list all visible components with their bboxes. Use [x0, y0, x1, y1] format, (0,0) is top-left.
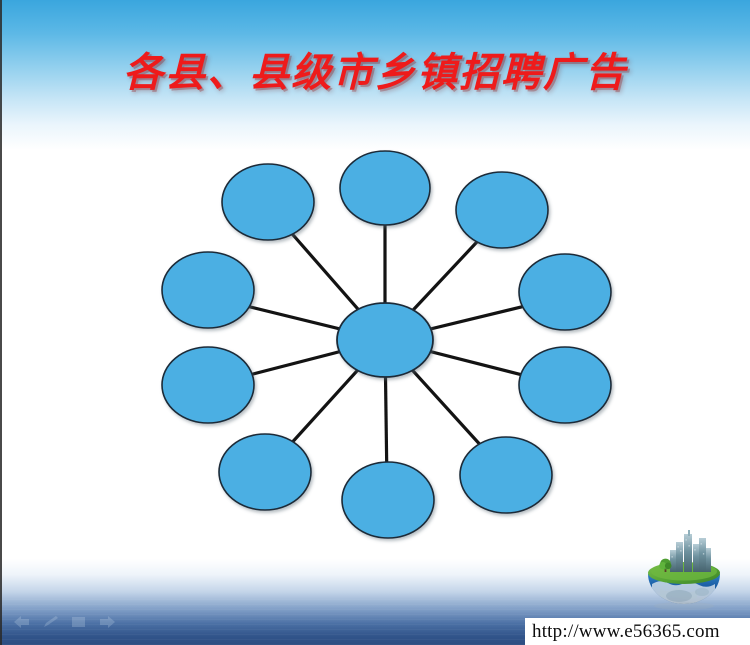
- node-top[interactable]: [340, 151, 430, 225]
- node-right-upper[interactable]: [519, 254, 611, 330]
- logo-shadow: [654, 602, 714, 610]
- presentation-slide: 各县、县级市乡镇招聘广告: [0, 0, 750, 645]
- node-left-lower[interactable]: [162, 347, 254, 423]
- ghost-toolbar: [12, 611, 127, 633]
- earth-city-globe-logo: [636, 526, 732, 616]
- node-lower-right[interactable]: [460, 437, 552, 513]
- watermark-url: http://www.e56365.com: [525, 618, 750, 645]
- node-bottom[interactable]: [342, 462, 434, 538]
- forward-arrow-icon: [97, 614, 117, 630]
- back-arrow-icon: [12, 614, 32, 630]
- city-buildings: [670, 530, 711, 572]
- pencil-icon: [41, 614, 61, 630]
- node-upper-left[interactable]: [222, 164, 314, 240]
- node-lower-left[interactable]: [219, 434, 311, 510]
- watermark-url-text: http://www.e56365.com: [532, 621, 720, 643]
- node-upper-right[interactable]: [456, 172, 548, 248]
- page-title: 各县、县级市乡镇招聘广告: [123, 40, 627, 98]
- center-node[interactable]: [337, 303, 433, 377]
- radial-diagram: [150, 120, 620, 550]
- square-icon: [70, 614, 88, 630]
- node-left-upper[interactable]: [162, 252, 254, 328]
- page-title-container: 各县、县级市乡镇招聘广告: [0, 40, 750, 98]
- node-right-lower[interactable]: [519, 347, 611, 423]
